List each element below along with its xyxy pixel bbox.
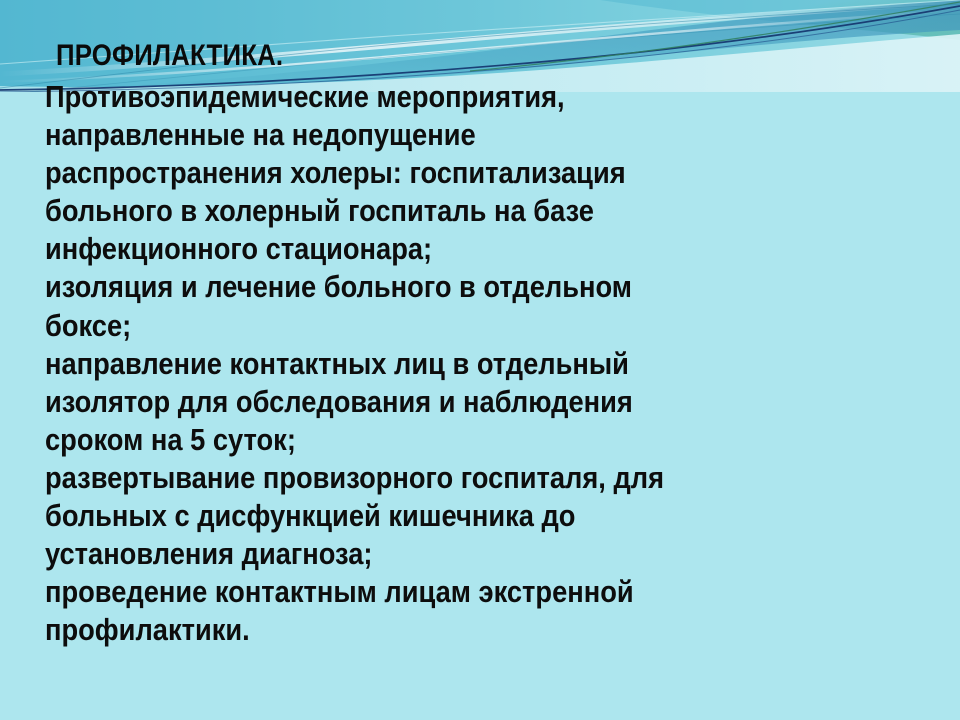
body-line: больного в холерный госпиталь на базе — [45, 192, 837, 230]
body-line: направление контактных лиц в отдельный — [45, 345, 837, 383]
slide-content: ПРОФИЛАКТИКА. Противоэпидемические мероп… — [0, 0, 960, 720]
page-title: ПРОФИЛАКТИКА. — [56, 39, 283, 73]
body-line: проведение контактным лицам экстренной — [45, 573, 837, 611]
body-line: изолятор для обследования и наблюдения — [45, 383, 837, 421]
body-text-block: Противоэпидемические мероприятия, направ… — [45, 78, 945, 649]
body-line: сроком на 5 суток; — [45, 421, 837, 459]
body-line: изоляция и лечение больного в отдельном — [45, 268, 837, 306]
body-line: развертывание провизорного госпиталя, дл… — [45, 459, 837, 497]
body-line: боксе; — [45, 307, 837, 345]
body-line: Противоэпидемические мероприятия, — [45, 78, 837, 116]
body-line: направленные на недопущение — [45, 116, 837, 154]
body-line: профилактики. — [45, 611, 837, 649]
body-line: больных с дисфункцией кишечника до — [45, 497, 837, 535]
body-line: установления диагноза; — [45, 535, 837, 573]
body-line: распространения холеры: госпитализация — [45, 154, 837, 192]
presentation-slide: ПРОФИЛАКТИКА. Противоэпидемические мероп… — [0, 0, 960, 720]
body-line: инфекционного стационара; — [45, 230, 837, 268]
